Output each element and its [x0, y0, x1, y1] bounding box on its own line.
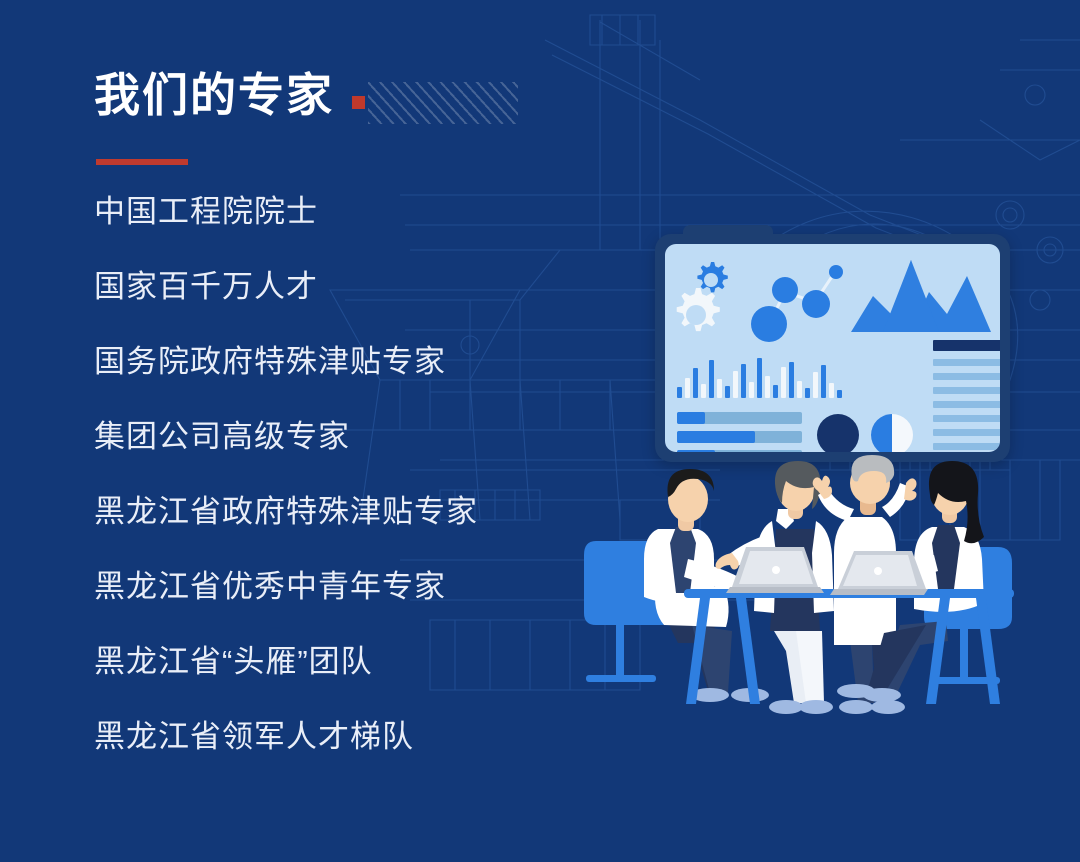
progress-row: [677, 431, 802, 443]
list-item: 中国工程院院士: [94, 196, 614, 227]
title-underline: [96, 159, 188, 165]
list-item: 黑龙江省优秀中青年专家: [94, 571, 614, 602]
list-item: 黑龙江省政府特殊津贴专家: [94, 496, 614, 527]
document-line: [933, 359, 1000, 366]
document-line: [933, 373, 1000, 380]
list-item: 国家百千万人才: [94, 271, 614, 302]
list-item: 黑龙江省“头雁”团队: [94, 646, 614, 677]
document-line: [933, 443, 1000, 450]
donut-solid: [817, 414, 859, 452]
progress-row: [677, 412, 802, 424]
team-meeting-illustration: [560, 455, 1080, 755]
area-chart: [851, 254, 996, 334]
panel-screen: [665, 244, 1000, 452]
slide-root: 我们的专家 中国工程院院士 国家百千万人才 国务院政府特殊津贴专家 集团公司高级…: [0, 0, 1080, 862]
list-item: 集团公司高级专家: [94, 421, 614, 452]
network-graph: [743, 262, 853, 357]
hatch-decoration: [368, 82, 518, 124]
progress-bars: [677, 412, 802, 452]
document-line: [933, 415, 1000, 422]
pie-half: [871, 414, 913, 452]
document-line: [933, 401, 1000, 408]
page-title: 我们的专家: [94, 72, 334, 118]
gear-large-icon: [665, 284, 727, 346]
list-item: 国务院政府特殊津贴专家: [94, 346, 614, 377]
expert-list: 中国工程院院士 国家百千万人才 国务院政府特殊津贴专家 集团公司高级专家 黑龙江…: [94, 196, 614, 796]
document-header-bar: [933, 340, 1000, 351]
document-line: [933, 387, 1000, 394]
document-lines: [933, 340, 1000, 452]
analytics-panel: [655, 234, 1010, 462]
panel-tab: [683, 225, 773, 239]
red-square-dot: [352, 96, 365, 109]
progress-row: [677, 450, 802, 452]
waveform-chart: [677, 356, 842, 398]
list-item: 黑龙江省领军人才梯队: [94, 721, 614, 752]
document-line: [933, 429, 1000, 436]
